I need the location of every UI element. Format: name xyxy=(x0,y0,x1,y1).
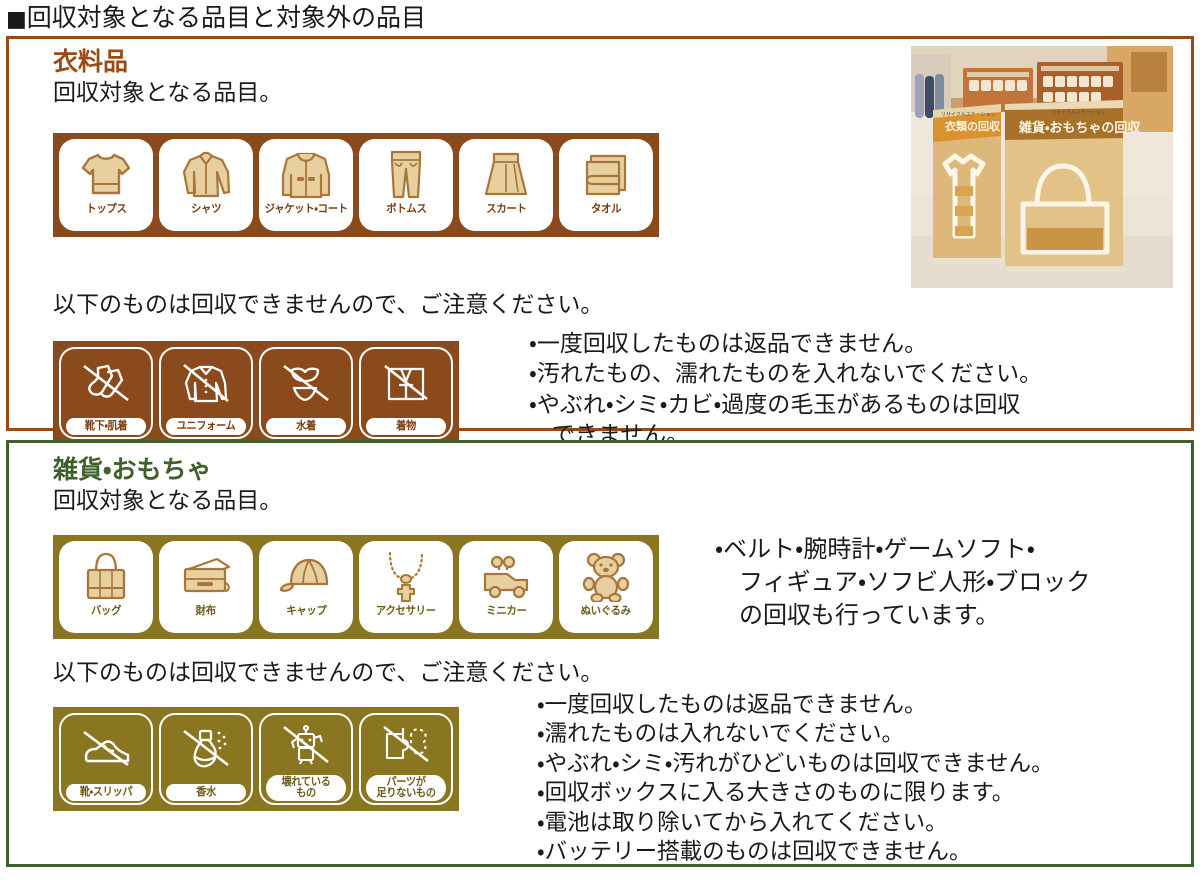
note-line: ・濡れたものは入れないでください。 xyxy=(537,720,1197,749)
goods-accepted-item[interactable]: ぬいぐるみ xyxy=(559,541,653,633)
item-label: ボトムス xyxy=(386,203,426,215)
goods-section-title: 雑貨・おもちゃ xyxy=(53,455,1191,485)
note-line: の回収も行っています。 xyxy=(715,599,1185,632)
perfume-icon xyxy=(161,715,251,784)
page-title-text: 回収対象となる品目と対象外の品目 xyxy=(27,3,426,32)
note-line: ・ベルト・腕時計・ゲームソフト・ xyxy=(715,533,1185,566)
collection-box-photo: リサイクルステーション 衣類の回収 リサイクルステーション 雑貨・おもちゃの回収 xyxy=(911,46,1173,288)
clothing-accepted-item[interactable]: ジャケット・コート xyxy=(259,139,353,231)
clothing-accepted-item[interactable]: シャツ xyxy=(159,139,253,231)
item-label: アクセサリー xyxy=(376,605,436,617)
clothing-rejected-item[interactable]: ユニフォーム xyxy=(159,347,253,439)
clothing-accepted-item[interactable]: トップス xyxy=(59,139,153,231)
goods-rejected-item[interactable]: 靴・スリッパ xyxy=(59,713,153,805)
goods-panel: 雑貨・おもちゃ 回収対象となる品目。 バッグ 財布 キャップ xyxy=(6,440,1194,867)
note-line: ・一度回収したものは返品できません。 xyxy=(529,329,1189,360)
item-label: タオル xyxy=(591,203,621,215)
item-label: 香水 xyxy=(166,784,246,801)
teddy-bear-icon xyxy=(580,547,632,605)
svg-text:リサイクルステーション: リサイクルステーション xyxy=(941,112,996,118)
item-label-line2: もの xyxy=(296,786,316,799)
goods-rejected-item[interactable]: 香水 xyxy=(159,713,253,805)
necklace-icon xyxy=(380,547,432,605)
clothing-accepted-item[interactable]: タオル xyxy=(559,139,653,231)
clothing-rejected-item[interactable]: 水着 xyxy=(259,347,353,439)
item-label: ジャケット・コート xyxy=(264,203,347,215)
goods-accepted-item[interactable]: キャップ xyxy=(259,541,353,633)
item-label: パーツが足りないもの xyxy=(366,775,446,801)
item-label: 靴下・肌着 xyxy=(66,418,146,435)
item-label: キャップ xyxy=(286,605,326,617)
note-line: ・電池は取り除いてから入れてください。 xyxy=(537,809,1197,838)
wallet-icon xyxy=(177,547,235,605)
item-label: スカート xyxy=(486,203,526,215)
note-line: ・回収ボックスに入る大きさのものに限ります。 xyxy=(537,779,1197,808)
goods-rejected-band: 靴・スリッパ 香水 壊れているもの パーツが足りないもの xyxy=(53,707,459,811)
goods-accepted-item[interactable]: ミニカー xyxy=(459,541,553,633)
item-label: ユニフォーム xyxy=(166,418,246,435)
goods-section-subtitle: 回収対象となる品目。 xyxy=(53,486,1191,517)
clothing-accepted-item[interactable]: スカート xyxy=(459,139,553,231)
tshirt-icon xyxy=(78,145,134,203)
item-label: シャツ xyxy=(191,203,221,215)
uniform-icon xyxy=(161,349,251,418)
item-label: ミニカー xyxy=(486,605,526,617)
kimono-icon xyxy=(361,349,451,418)
item-label: 財布 xyxy=(196,605,216,617)
clothing-accepted-band: トップス シャツ ジャケット・コート ボトムス xyxy=(53,133,659,237)
coat-icon xyxy=(277,145,335,203)
heading-marker-icon: ■ xyxy=(6,7,27,32)
clothing-rejected-item[interactable]: 着物 xyxy=(359,347,453,439)
shirt-icon xyxy=(178,145,234,203)
svg-text:衣類の回収: 衣類の回収 xyxy=(945,119,1001,133)
item-label: トップス xyxy=(86,203,126,215)
note-line: ・一度回収したものは返品できません。 xyxy=(537,691,1197,720)
clothing-notes: ・一度回収したものは返品できません。 ・汚れたもの、濡れたものを入れないでくださ… xyxy=(529,329,1189,451)
clothing-accepted-item[interactable]: ボトムス xyxy=(359,139,453,231)
note-line: ・やぶれ・シミ・汚れがひどいものは回収できません。 xyxy=(537,750,1197,779)
clothing-panel: 衣料品 回収対象となる品目。 トップス シャツ ジャケット・コート xyxy=(6,36,1194,431)
goods-rejected-item[interactable]: パーツが足りないもの xyxy=(359,713,453,805)
skirt-icon xyxy=(480,145,532,203)
note-line: ・汚れたもの、濡れたものを入れないでください。 xyxy=(529,359,1189,390)
item-label: バッグ xyxy=(91,605,121,617)
shoe-icon xyxy=(61,715,151,784)
clothing-rejected-band: 靴下・肌着 ユニフォーム 水着 着物 xyxy=(53,341,459,445)
item-label-line2: 足りないもの xyxy=(376,786,435,799)
item-label: 靴・スリッパ xyxy=(66,784,146,801)
clothing-rejected-item[interactable]: 靴下・肌着 xyxy=(59,347,153,439)
item-label: 着物 xyxy=(366,418,446,435)
cap-icon xyxy=(277,547,335,605)
bag-icon xyxy=(79,547,133,605)
towel-icon xyxy=(579,145,633,203)
socks-icon xyxy=(61,349,151,418)
item-label: 水着 xyxy=(266,418,346,435)
missing-parts-icon xyxy=(361,715,451,775)
goods-accepted-item[interactable]: バッグ xyxy=(59,541,153,633)
note-line: フィギュア・ソフビ人形・ブロック xyxy=(715,566,1185,599)
svg-text:リサイクルステーション: リサイクルステーション xyxy=(1051,110,1106,116)
goods-rejected-item[interactable]: 壊れているもの xyxy=(259,713,353,805)
clothing-caution-heading: 以下のものは回収できませんので、ご注意ください。 xyxy=(53,291,603,321)
svg-text:雑貨・おもちゃの回収: 雑貨・おもちゃの回収 xyxy=(1018,120,1141,136)
page-title: ■回収対象となる品目と対象外の品目 xyxy=(0,0,1200,36)
goods-accepted-item[interactable]: アクセサリー xyxy=(359,541,453,633)
item-label: 壊れているもの xyxy=(266,775,346,801)
goods-caution-heading: 以下のものは回収できませんので、ご注意ください。 xyxy=(53,659,603,689)
goods-side-notes: ・ベルト・腕時計・ゲームソフト・ フィギュア・ソフビ人形・ブロック の回収も行っ… xyxy=(715,533,1185,632)
toy-car-icon xyxy=(477,547,535,605)
goods-accepted-band: バッグ 財布 キャップ アクセサリー xyxy=(53,535,659,639)
broken-toy-icon xyxy=(261,715,351,775)
goods-accepted-item[interactable]: 財布 xyxy=(159,541,253,633)
swimsuit-icon xyxy=(261,349,351,418)
goods-notes: ・一度回収したものは返品できません。 ・濡れたものは入れないでください。 ・やぶ… xyxy=(537,691,1197,868)
item-label: ぬいぐるみ xyxy=(581,605,631,617)
note-line: ・やぶれ・シミ・カビ・過度の毛玉があるものは回収 xyxy=(529,390,1189,421)
note-line: ・バッテリー搭載のものは回収できません。 xyxy=(537,838,1197,867)
pants-icon xyxy=(382,145,430,203)
